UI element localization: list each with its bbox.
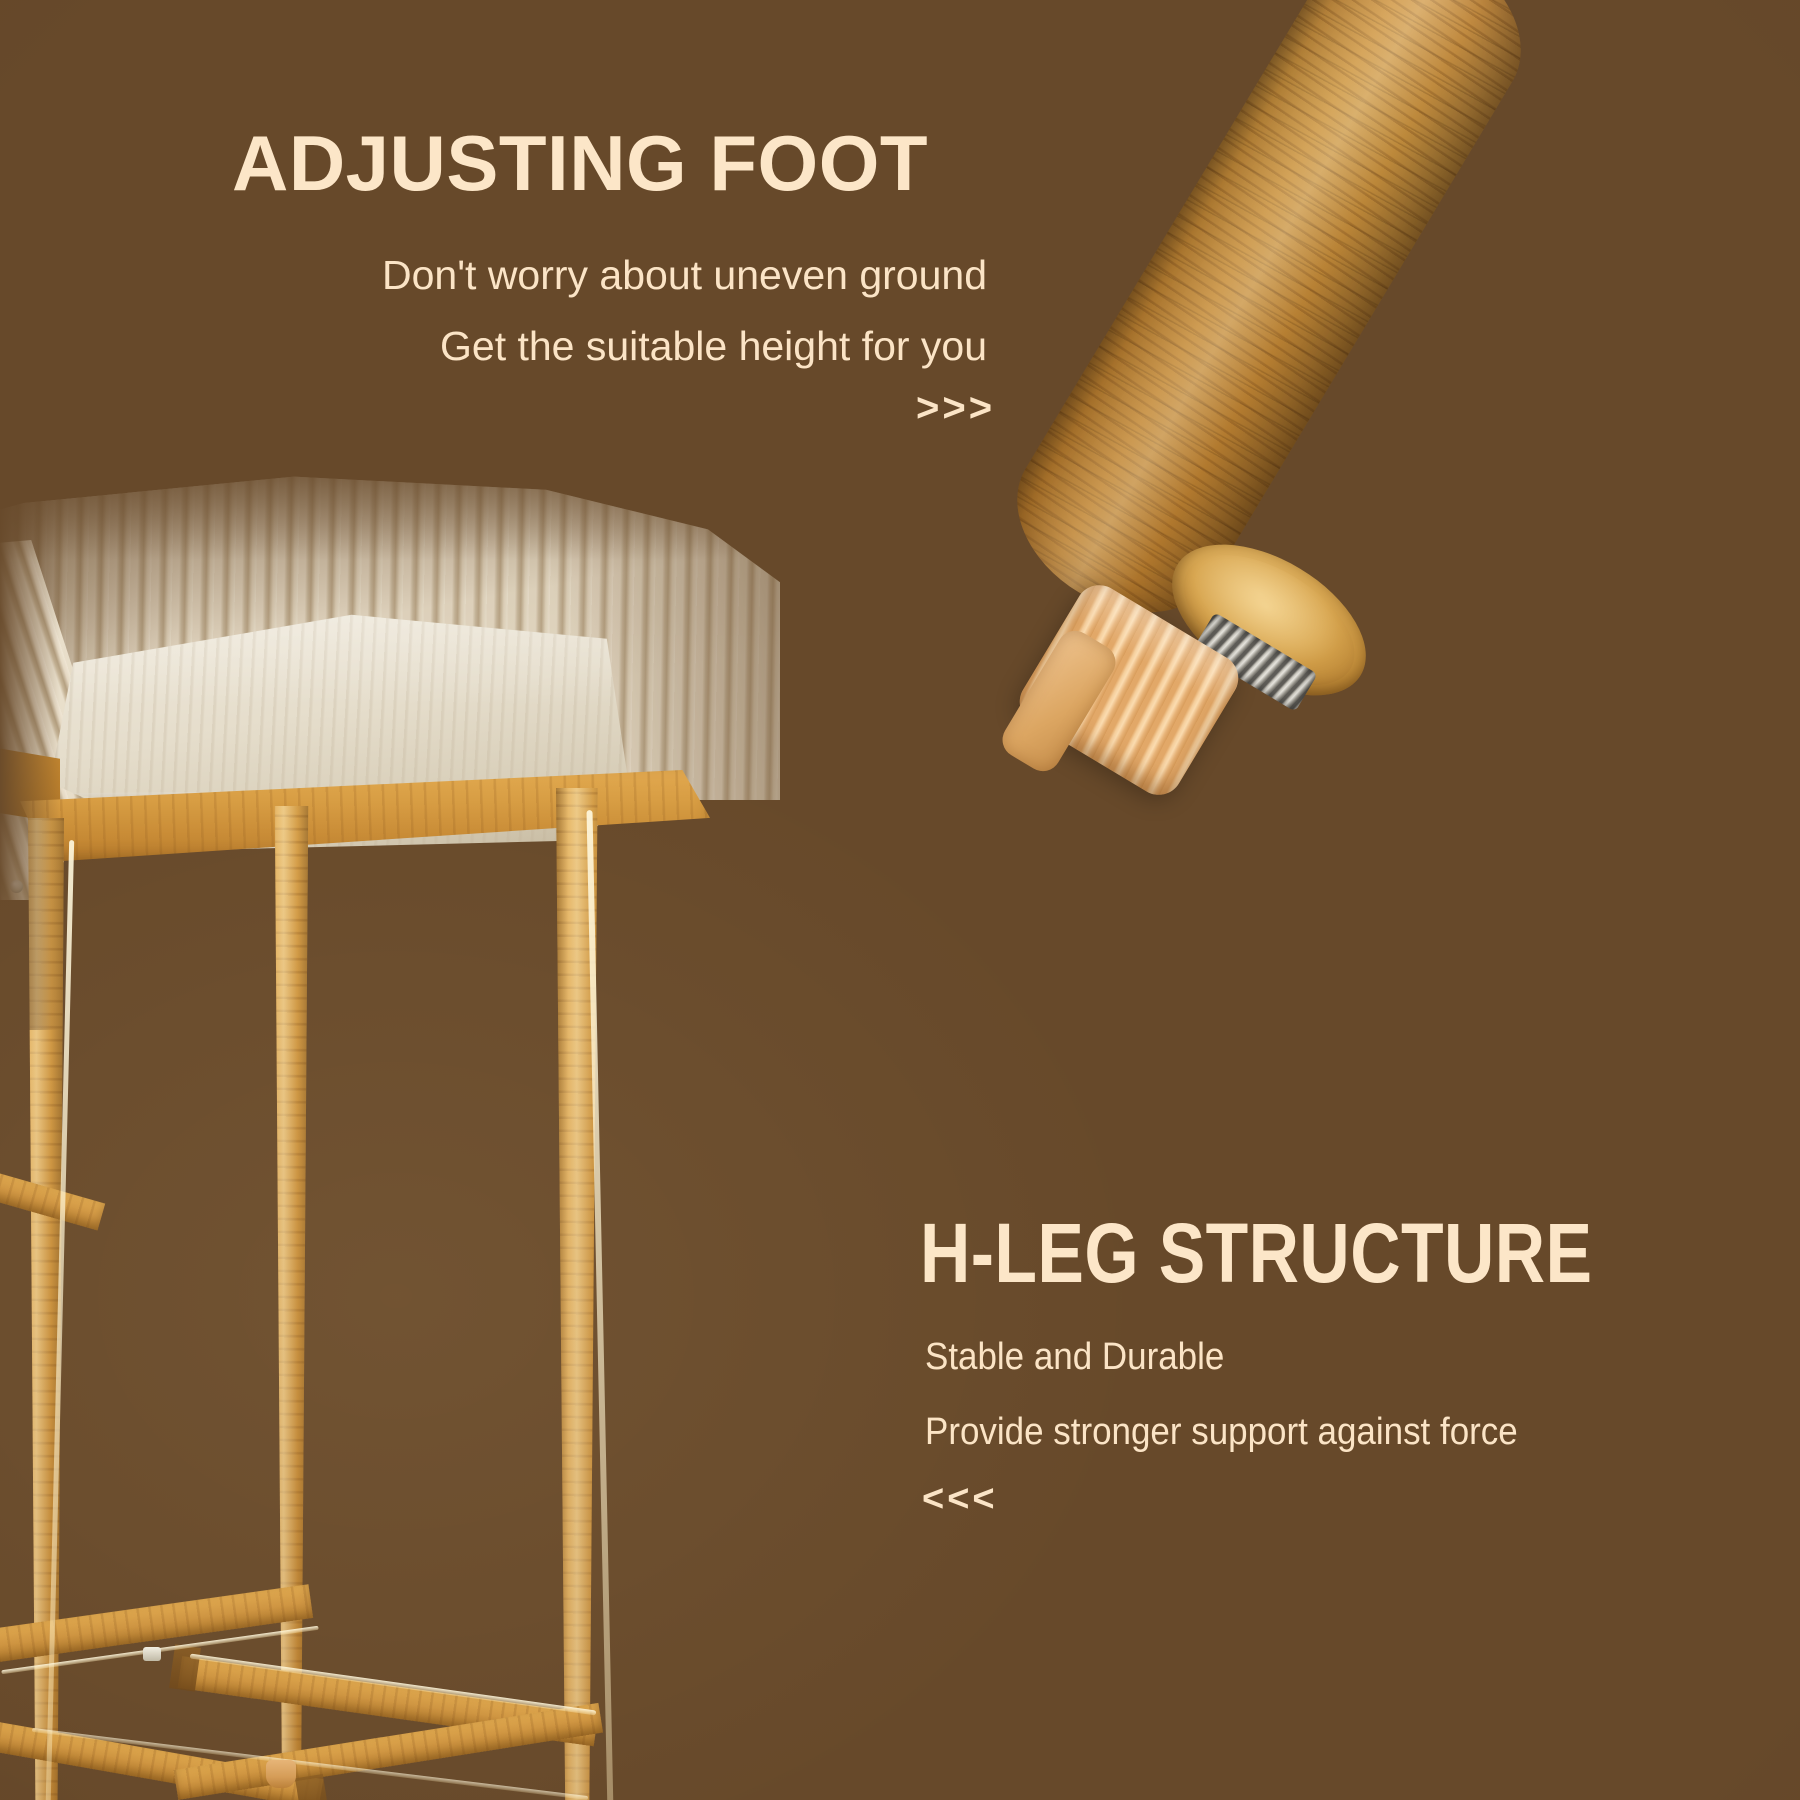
h-leg-structure-line-2: Provide stronger support against force: [925, 1411, 1518, 1454]
adjusting-foot-photo: [1010, 0, 1800, 700]
arrows-left-icon: <<<: [922, 1478, 998, 1521]
h-leg-structure-title: H-LEG STRUCTURE: [920, 1205, 1592, 1302]
adjusting-foot-line-1: Don't worry about uneven ground: [382, 252, 987, 299]
frame-screw-nub-2: [10, 880, 23, 893]
marketing-banner: ADJUSTING FOOT Don't worry about uneven …: [0, 0, 1800, 1800]
plastic-foot-tip-center: [266, 1760, 296, 1788]
stool-photo: [0, 470, 880, 1800]
h-leg-structure-line-1: Stable and Durable: [925, 1336, 1224, 1379]
stretcher-hardware-plate: [143, 1647, 161, 1661]
wooden-leg-shaft-image: [985, 0, 1553, 648]
stretcher-joint-shadow-right: [295, 1774, 329, 1800]
adjusting-foot-title: ADJUSTING FOOT: [232, 118, 928, 209]
arrows-right-icon: >>>: [916, 386, 995, 431]
adjusting-foot-line-2: Get the suitable height for you: [440, 323, 987, 370]
